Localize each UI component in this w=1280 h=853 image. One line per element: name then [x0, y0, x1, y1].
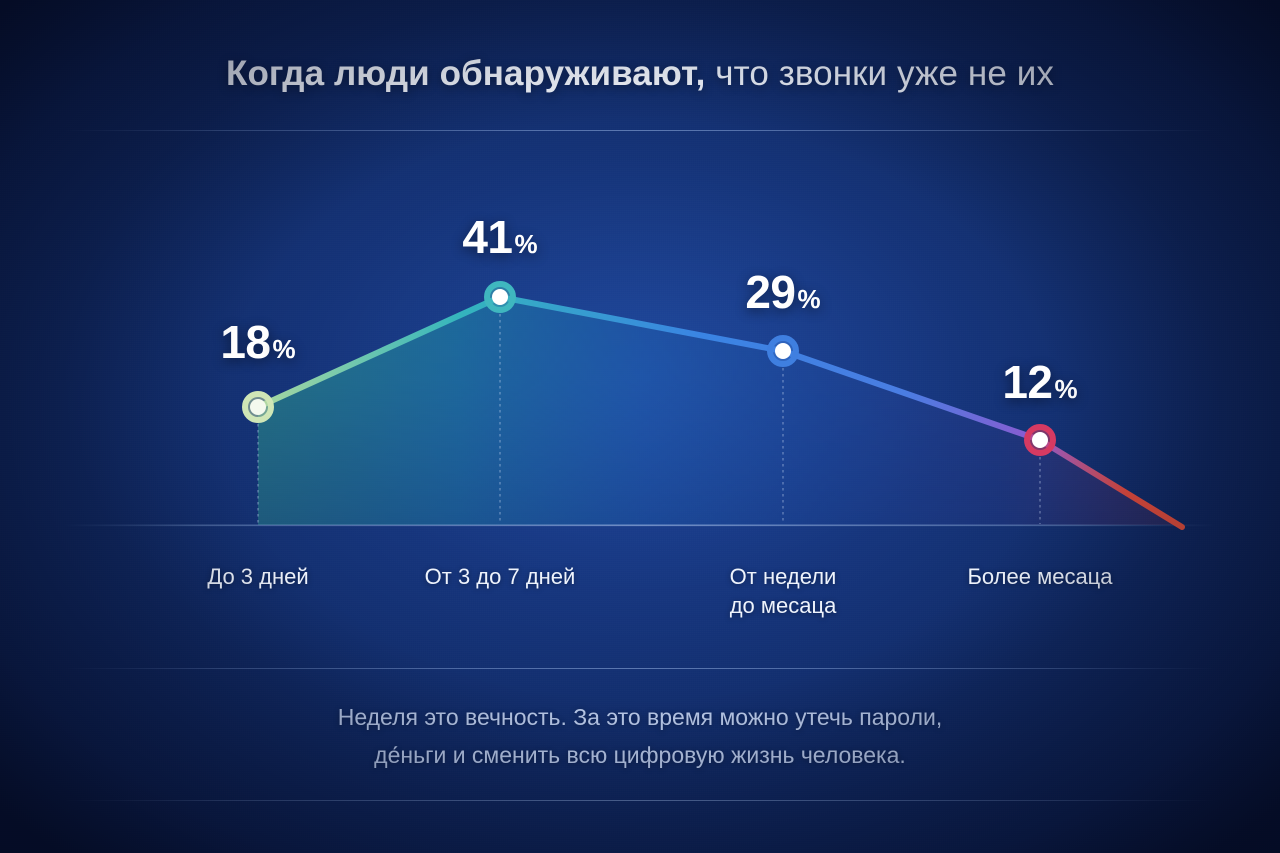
value-number: 41	[462, 211, 512, 263]
value-label: 29%	[703, 265, 863, 319]
axis-baseline	[64, 525, 1216, 527]
value-number: 18	[220, 316, 270, 368]
axis-label-category: До 3 дней	[148, 562, 368, 591]
value-label: 18%	[178, 315, 338, 369]
divider-footer	[64, 800, 1216, 801]
caption-line-1: Неделя это вечность. За это время можно …	[0, 698, 1280, 736]
caption-line-2: де́ньги и сменить всю цифровую жизнь чел…	[0, 736, 1280, 774]
value-label: 41%	[420, 210, 580, 264]
infographic-canvas: Когда люди обнаруживают, что звонки уже …	[0, 0, 1280, 853]
value-percent-sign: %	[515, 229, 538, 259]
axis-label-category: От 3 до 7 дней	[380, 562, 620, 591]
value-percent-sign: %	[798, 284, 821, 314]
divider-bottom	[64, 668, 1216, 669]
value-number: 12	[1002, 356, 1052, 408]
data-point-marker[interactable]	[1025, 425, 1055, 455]
data-point-marker[interactable]	[768, 336, 798, 366]
area-fill	[258, 297, 1180, 525]
axis-label-category: Более месаца	[930, 562, 1150, 591]
area-chart	[0, 0, 1280, 545]
value-percent-sign: %	[273, 334, 296, 364]
data-point-marker[interactable]	[243, 392, 273, 422]
value-percent-sign: %	[1055, 374, 1078, 404]
data-point-marker[interactable]	[485, 282, 515, 312]
value-label: 12%	[960, 355, 1120, 409]
value-number: 29	[745, 266, 795, 318]
axis-label-category: От недели до месаца	[673, 562, 893, 620]
